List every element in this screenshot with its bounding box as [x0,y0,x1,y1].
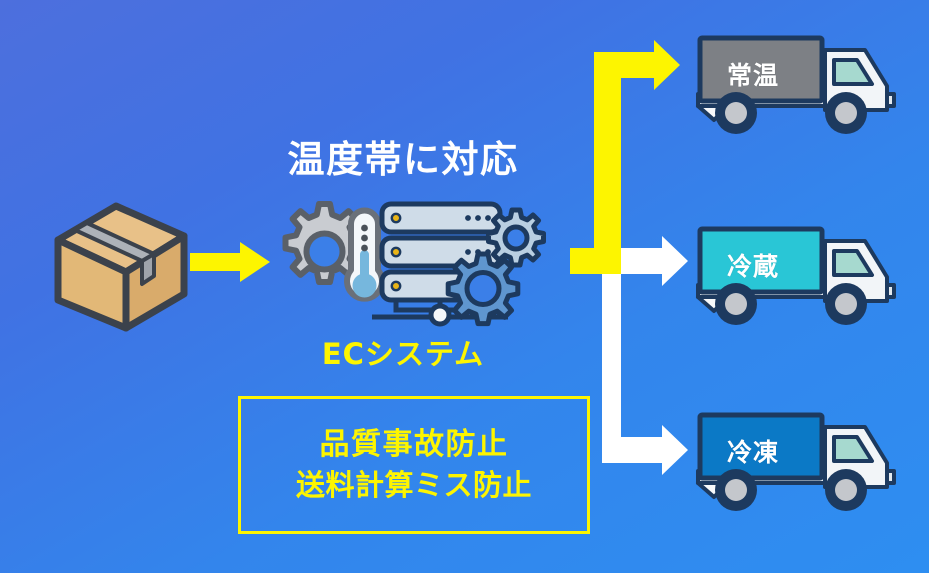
system-label: ECシステム [238,339,568,371]
truck-label-refrigerated: 冷蔵 [727,247,779,283]
branch-truck-refrigerated: 冷蔵 [694,219,916,331]
yellow-right-arrow-icon [190,240,272,284]
branch-truck-ambient: 常温 [694,28,916,140]
small-gear-icon [489,210,544,265]
branch-truck-frozen: 冷凍 [694,405,916,517]
diagram-canvas: 常温 冷蔵 冷凍 温度帯に対応 [0,0,929,573]
truck-label-frozen: 冷凍 [727,433,779,469]
benefits-box: 品質事故防止 送料計算ミス防止 [238,396,590,534]
benefit-line-2: 送料計算ミス防止 [296,469,532,502]
cardboard-box-icon [46,196,196,336]
truck-label-ambient: 常温 [727,56,779,92]
blue-gear-icon [448,254,518,324]
page-title: 温度帯に対応 [238,140,568,181]
ec-system-icon [272,198,562,330]
server-node [431,306,449,324]
benefit-line-1: 品質事故防止 [320,428,509,463]
thermometer-icon [347,211,382,299]
